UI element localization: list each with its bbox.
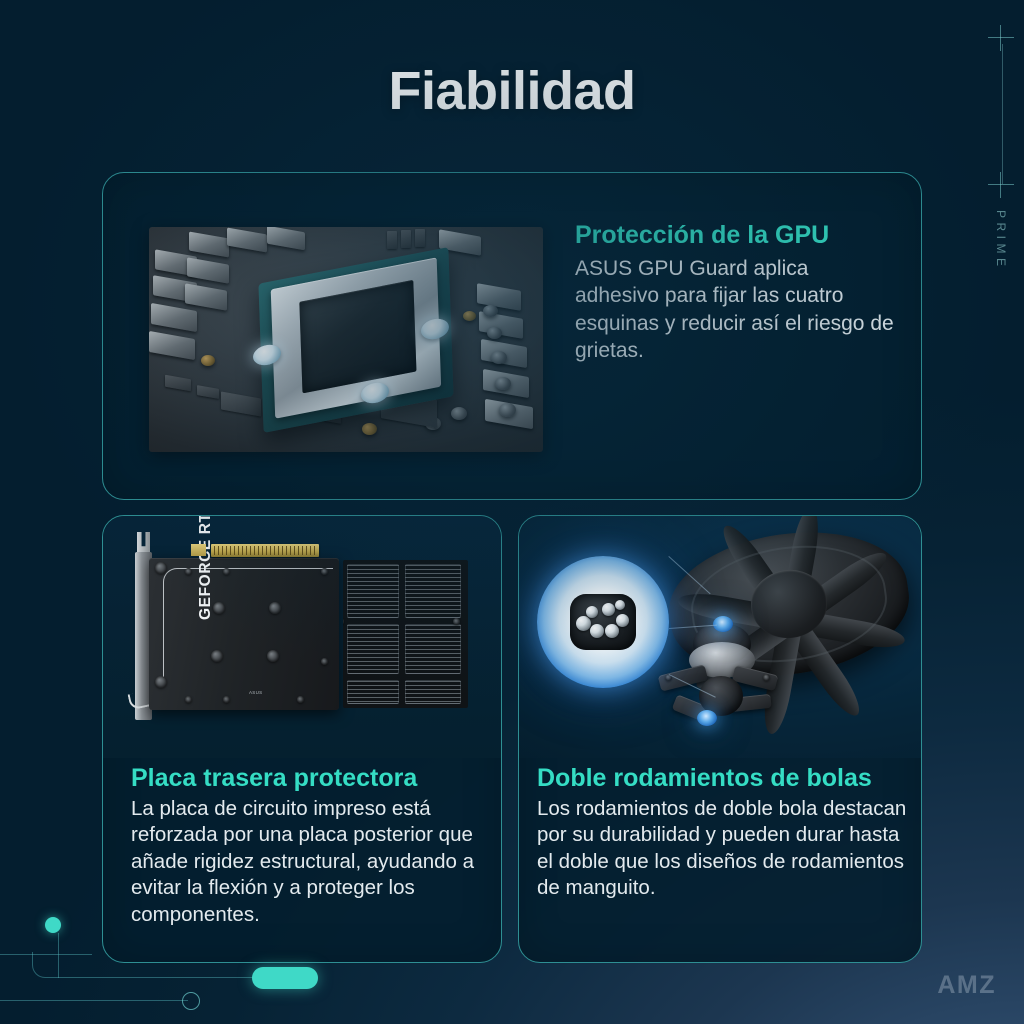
brand-vertical-label: PRIME <box>994 210 1008 271</box>
card-body-bearings: Los rodamientos de doble bola destacan p… <box>537 796 907 902</box>
card-heading-backplate: Placa trasera protectora <box>131 764 479 792</box>
card-backplate: GEFORCE RTX ASUS <box>102 515 502 963</box>
card-body-gpu-protection: ASUS GPU Guard aplica adhesivo para fija… <box>575 255 895 364</box>
bearing-highlight-node <box>697 710 717 726</box>
gpu-protection-text-block: Protección de la GPU ASUS GPU Guard apli… <box>575 221 895 364</box>
vertical-rule <box>1002 44 1003 184</box>
gpu-die-closeup-image <box>149 227 543 452</box>
card-heading-gpu-protection: Protección de la GPU <box>575 221 895 249</box>
bearing-hub-assembly <box>669 624 779 724</box>
circuit-node-ring <box>182 992 200 1010</box>
plus-mark-icon <box>988 172 1014 198</box>
plus-mark-icon <box>988 25 1014 51</box>
fan-dual-ball-bearing-exploded-image <box>519 516 921 758</box>
bearing-magnifier-circle <box>537 556 669 688</box>
backplate-text-block: Placa trasera protectora La placa de cir… <box>131 764 479 928</box>
card-body-backplate: La placa de circuito impreso está reforz… <box>131 796 479 928</box>
card-gpu-protection: Protección de la GPU ASUS GPU Guard apli… <box>102 172 922 500</box>
circuit-trace <box>58 933 59 978</box>
card-dual-ball-bearings: Doble rodamientos de bolas Los rodamient… <box>518 515 922 963</box>
circuit-trace-corner <box>32 952 58 978</box>
circuit-node-dot <box>45 917 61 933</box>
graphics-card-backplate-image: GEFORCE RTX ASUS <box>103 516 501 758</box>
bearings-text-block: Doble rodamientos de bolas Los rodamient… <box>537 764 907 902</box>
circuit-trace <box>58 977 258 978</box>
page-title: Fiabilidad <box>0 60 1024 122</box>
circuit-trace <box>0 1000 188 1001</box>
card-heading-bearings: Doble rodamientos de bolas <box>537 764 907 792</box>
backplate-brand-label: GEFORCE RTX <box>197 516 215 620</box>
watermark-label: AMZ <box>937 971 996 1000</box>
circuit-pill <box>252 967 318 989</box>
page-background: Fiabilidad <box>0 0 1024 1024</box>
